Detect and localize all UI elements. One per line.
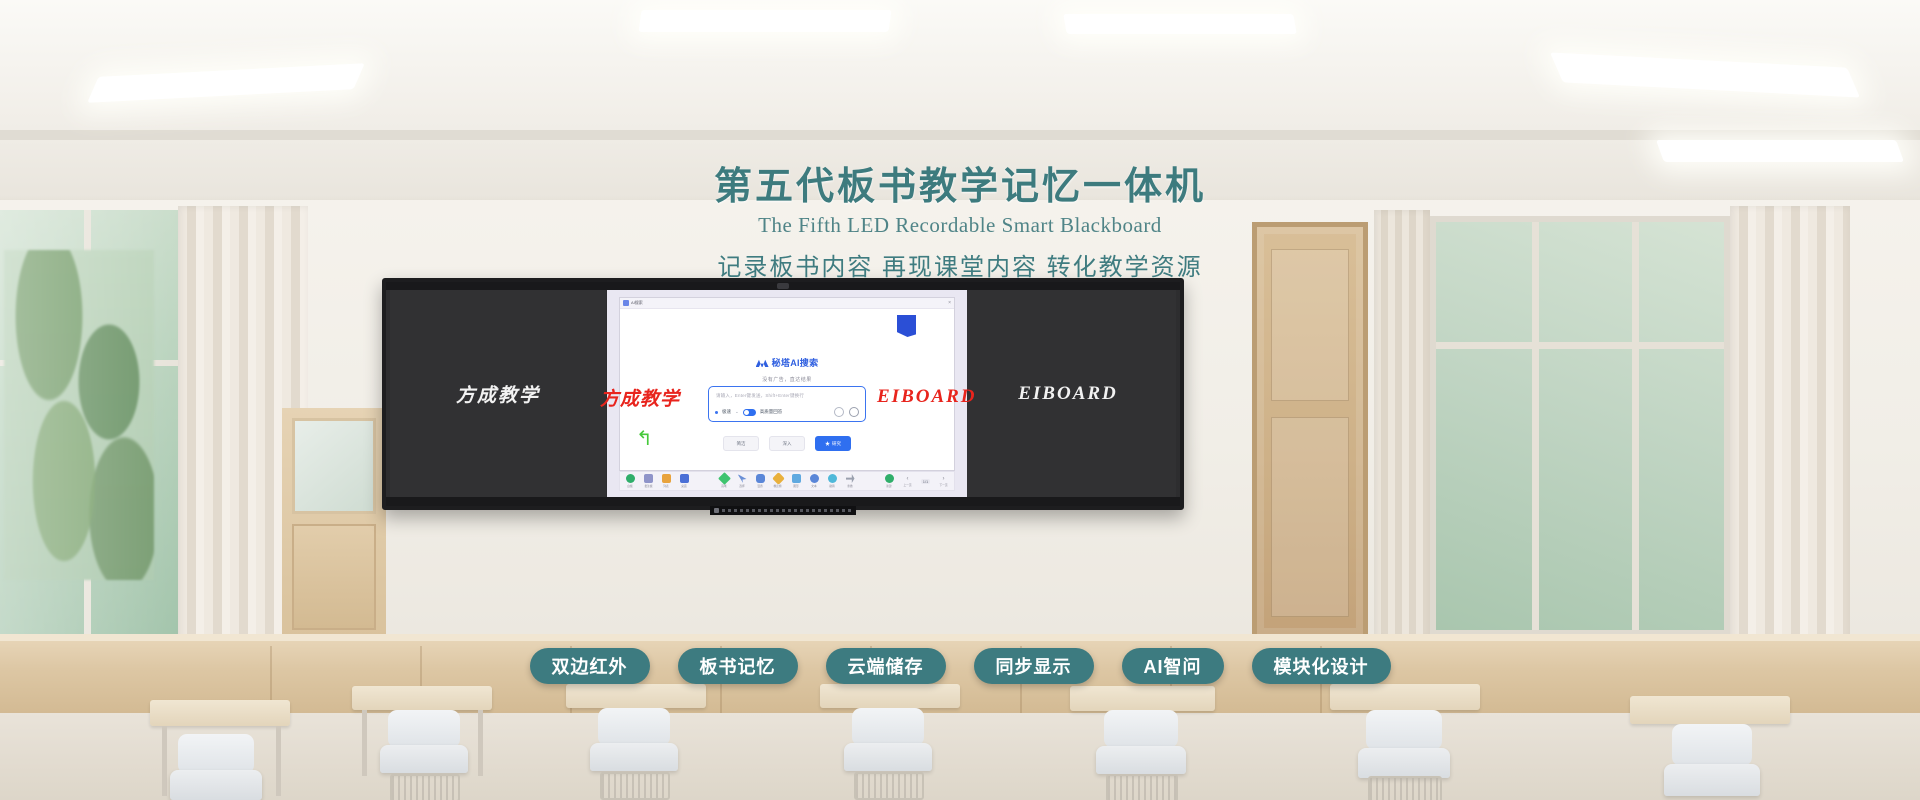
toolbar-item-redo[interactable]: 重做 xyxy=(844,474,857,488)
student-chair xyxy=(1358,748,1450,778)
feature-pill-row[interactable]: 双边红外 板书记忆 云端储存 同步显示 AI智问 模块化设计 xyxy=(0,648,1920,684)
cursor-icon xyxy=(738,474,747,483)
new-page-icon xyxy=(885,474,894,483)
student-chair xyxy=(1664,764,1760,796)
brand-block: 秘塔AI搜索 没有广告，直达结果 xyxy=(620,354,954,383)
desks-and-chairs xyxy=(0,690,1920,800)
blue-ink-shape xyxy=(897,315,916,337)
handwriting-chinese: 方成教学 xyxy=(600,384,680,411)
whiteboard-icon xyxy=(626,474,635,483)
page-tagline: 记录板书内容 再现课堂内容 转化教学资源 xyxy=(0,256,1920,280)
wainscot-trim xyxy=(0,634,1920,641)
chair-back xyxy=(1104,710,1178,748)
page-title: 第五代板书教学记忆一体机 xyxy=(0,168,1920,206)
list-icon xyxy=(662,474,671,483)
text-icon xyxy=(810,474,819,483)
search-mode-label[interactable]: 极速 xyxy=(722,409,731,415)
search-placeholder: 请输入，Enter键发送，Shift+Enter键换行 xyxy=(716,393,804,399)
chevron-down-icon[interactable]: ⌄ xyxy=(735,409,739,415)
classroom-hero-banner: 第五代板书教学记忆一体机 The Fifth LED Recordable Sm… xyxy=(0,0,1920,800)
toolbar-mid-group[interactable]: 画笔 选择 漫游 橡皮擦 xyxy=(714,474,861,488)
pen-icon xyxy=(718,472,731,485)
windows-taskbar[interactable] xyxy=(710,506,856,515)
undo-icon xyxy=(828,474,837,483)
cabinet-glass-door xyxy=(292,418,376,514)
toolbar-item-roam[interactable]: 漫游 xyxy=(754,474,767,488)
student-desk xyxy=(150,700,290,726)
student-chair xyxy=(844,743,932,771)
toolbar-label: 漫游 xyxy=(757,484,762,488)
camera-icon xyxy=(777,283,789,289)
toolbar-item-pen[interactable]: 画笔 xyxy=(718,474,731,488)
shape-icon xyxy=(792,474,801,483)
student-chair xyxy=(380,745,468,773)
right-chalk-wing: EIBOARD xyxy=(960,290,1176,497)
cabinet-door xyxy=(292,524,376,630)
toolbar-item-shape[interactable]: 图形 xyxy=(790,474,803,488)
toolbar-label: 下一页 xyxy=(939,483,947,487)
student-chair xyxy=(1096,746,1186,774)
desk-leg xyxy=(162,726,167,796)
page-number: 1/1 xyxy=(921,479,931,484)
chair-back xyxy=(852,708,924,746)
smart-blackboard[interactable]: 方成教学 EIBOARD AI搜索 × 秘塔AI搜索 没有广告，直达结 xyxy=(382,278,1184,510)
feature-pill-board-memory[interactable]: 板书记忆 xyxy=(678,648,798,684)
mode-button-deep[interactable]: 深入 xyxy=(769,436,805,451)
toolbar-item-select[interactable]: 选择 xyxy=(736,474,749,488)
toolbar-item-list[interactable]: 列表 xyxy=(660,474,673,488)
toolbar-item-text[interactable]: 文本 xyxy=(808,474,821,488)
student-chair xyxy=(590,743,678,771)
desk-leg xyxy=(276,726,281,796)
toolbar-label: 重做 xyxy=(847,484,852,488)
chair-back xyxy=(178,734,254,774)
app-icon xyxy=(623,300,629,306)
undo-stroke-mark: ↰ xyxy=(636,428,653,448)
metaso-logo-icon xyxy=(756,358,769,367)
feature-pill-sync-display[interactable]: 同步显示 xyxy=(974,648,1094,684)
toolbar-label: 撤销 xyxy=(829,484,834,488)
left-chalk-wing: 方成教学 xyxy=(390,290,606,497)
toolbar-item-new-page[interactable]: 新建 xyxy=(883,474,896,488)
close-icon[interactable]: × xyxy=(948,301,951,306)
board-bottom-bezel xyxy=(386,497,1180,506)
chair-back xyxy=(598,708,670,746)
toolbar-item-annotation[interactable]: 批注板 xyxy=(642,474,655,488)
student-desk xyxy=(566,684,706,708)
mode-button-research[interactable]: 研究 xyxy=(815,436,851,451)
toolbar-item-prev-page[interactable]: ‹ 上一页 xyxy=(901,476,914,487)
annotation-icon xyxy=(644,474,653,483)
search-input[interactable]: 请输入，Enter键发送，Shift+Enter键换行 极速 ⌄ 高质量回答 xyxy=(708,386,866,422)
toolbar-item-desktop[interactable]: 桌面 xyxy=(678,474,691,488)
desk-basket xyxy=(390,774,460,800)
toolbar-item-whiteboard[interactable]: 白板 xyxy=(624,474,637,488)
desk-leg xyxy=(362,710,367,776)
desktop-icon xyxy=(680,474,689,483)
toolbar-label: 新建 xyxy=(887,484,892,488)
chevron-right-icon: › xyxy=(943,476,945,482)
quality-toggle[interactable] xyxy=(743,409,756,416)
toolbar-label: 上一页 xyxy=(903,483,911,487)
search-mode-buttons[interactable]: 简洁 深入 研究 xyxy=(620,436,954,451)
toolbar-item-next-page[interactable]: › 下一页 xyxy=(937,476,950,487)
toolbar-label: 列表 xyxy=(664,484,669,488)
attachment-icon[interactable] xyxy=(849,407,859,417)
feature-pill-ai-ask[interactable]: AI智问 xyxy=(1122,648,1224,684)
image-upload-icon[interactable] xyxy=(834,407,844,417)
left-wing-text: 方成教学 xyxy=(390,380,606,407)
toolbar-left-group[interactable]: 白板 批注板 列表 桌面 xyxy=(620,474,695,488)
page-subtitle: The Fifth LED Recordable Smart Blackboar… xyxy=(0,215,1920,236)
desk-basket xyxy=(1106,774,1178,800)
chair-back xyxy=(1672,724,1752,766)
chevron-left-icon: ‹ xyxy=(907,476,909,482)
desk-basket xyxy=(600,772,670,800)
toolbar-label: 批注板 xyxy=(644,484,652,488)
student-chair xyxy=(170,770,262,800)
student-desk xyxy=(1330,684,1480,710)
chair-back xyxy=(388,710,460,748)
search-options-row[interactable]: 极速 ⌄ 高质量回答 xyxy=(715,407,859,417)
brand-subtitle: 没有广告，直达结果 xyxy=(620,376,954,383)
brand-name: 秘塔AI搜索 xyxy=(772,356,819,369)
toolbar-label: 桌面 xyxy=(682,484,687,488)
taskbar-items xyxy=(722,509,852,512)
student-desk xyxy=(1630,696,1790,724)
student-desk xyxy=(820,684,960,708)
redo-icon xyxy=(846,474,855,483)
start-icon[interactable] xyxy=(714,508,719,513)
toolbar-label: 选择 xyxy=(739,484,744,488)
toolbar-right-group[interactable]: 新建 ‹ 上一页 1/1 › 下一页 xyxy=(879,474,954,488)
student-desk xyxy=(352,686,492,710)
feature-pill-cloud-storage[interactable]: 云端储存 xyxy=(826,648,946,684)
window-titlebar: AI搜索 × xyxy=(620,298,954,309)
app-toolbar[interactable]: 白板 批注板 列表 桌面 xyxy=(619,471,955,491)
toolbar-item-eraser[interactable]: 橡皮擦 xyxy=(772,474,785,488)
toolbar-label: 画笔 xyxy=(721,484,726,488)
eraser-icon xyxy=(772,472,785,485)
toolbar-item-undo[interactable]: 撤销 xyxy=(826,474,839,488)
toolbar-label: 白板 xyxy=(628,484,633,488)
classroom-door xyxy=(1252,222,1368,640)
mode-dot-icon xyxy=(715,411,718,414)
hand-icon xyxy=(756,474,765,483)
mode-button-simple[interactable]: 简洁 xyxy=(723,436,759,451)
feature-pill-dual-infrared[interactable]: 双边红外 xyxy=(530,648,650,684)
sparkle-icon xyxy=(825,441,830,446)
board-top-bezel xyxy=(386,282,1180,290)
desk-basket xyxy=(1368,776,1442,800)
handwriting-english: EIBOARD xyxy=(877,386,977,408)
quality-toggle-label: 高质量回答 xyxy=(760,409,783,415)
toolbar-label: 图形 xyxy=(793,484,798,488)
right-wing-text: EIBOARD xyxy=(960,383,1176,405)
toolbar-label: 橡皮擦 xyxy=(774,484,782,488)
desk-leg xyxy=(478,710,483,776)
feature-pill-modular-design[interactable]: 模块化设计 xyxy=(1252,648,1391,684)
desk-basket xyxy=(854,772,924,800)
student-desk xyxy=(1070,686,1215,711)
toolbar-label: 文本 xyxy=(811,484,816,488)
window-title: AI搜索 xyxy=(631,300,643,306)
chair-back xyxy=(1366,710,1442,750)
page-indicator: 1/1 xyxy=(919,479,932,484)
hero-title-block: 第五代板书教学记忆一体机 The Fifth LED Recordable Sm… xyxy=(0,0,1920,280)
